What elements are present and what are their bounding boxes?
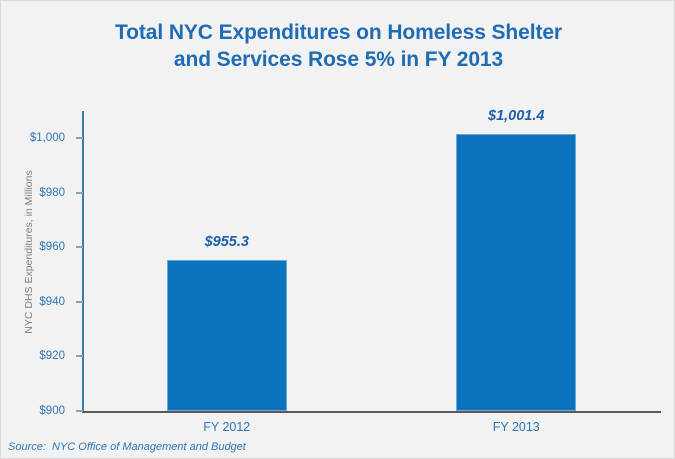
y-tick-mark bbox=[76, 137, 83, 139]
y-axis-line bbox=[82, 111, 84, 412]
x-tick-label: FY 2013 bbox=[436, 420, 596, 434]
y-tick-label: $920 bbox=[0, 350, 65, 362]
y-tick-mark bbox=[76, 301, 83, 303]
y-tick-label: $900 bbox=[0, 405, 65, 417]
y-tick-mark bbox=[76, 355, 83, 357]
chart-title: Total NYC Expenditures on Homeless Shelt… bbox=[1, 19, 675, 73]
x-axis-line bbox=[82, 411, 661, 413]
y-tick-label: $980 bbox=[0, 187, 65, 199]
x-tick-label: FY 2012 bbox=[147, 420, 307, 434]
chart-figure: Total NYC Expenditures on Homeless Shelt… bbox=[0, 0, 675, 459]
y-tick-mark bbox=[76, 192, 83, 194]
y-tick-mark bbox=[76, 246, 83, 248]
y-tick-label: $940 bbox=[0, 296, 65, 308]
bar[interactable] bbox=[167, 260, 287, 411]
y-tick-label: $960 bbox=[0, 241, 65, 253]
bar-value-label: $955.3 bbox=[147, 234, 307, 250]
y-tick-label: $1,000 bbox=[0, 132, 65, 144]
y-tick-mark bbox=[76, 410, 83, 412]
bar[interactable] bbox=[456, 134, 576, 411]
source-note: Source: NYC Office of Management and Bud… bbox=[8, 441, 246, 453]
bar-value-label: $1,001.4 bbox=[436, 108, 596, 124]
